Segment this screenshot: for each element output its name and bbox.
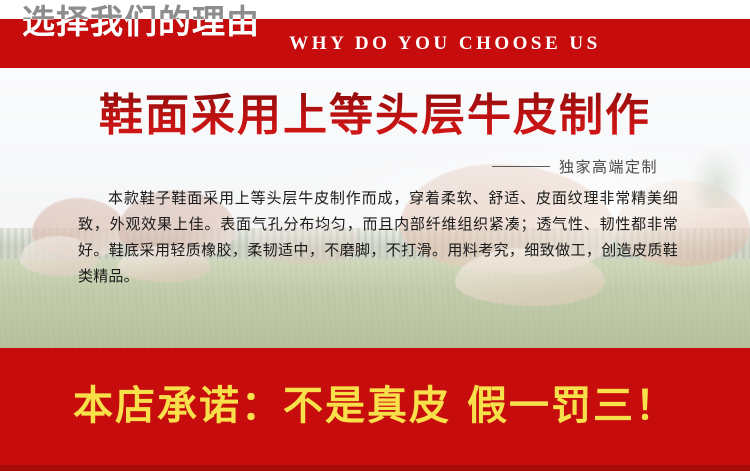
- subline-rule-icon: [492, 166, 550, 167]
- bottom-banner: 本店承诺：不是真皮 假一罚三！: [0, 348, 750, 471]
- feature-headline: 鞋面采用上等头层牛皮制作: [0, 90, 750, 142]
- feature-copy: 鞋面采用上等头层牛皮制作 独家高端定制 本款鞋子鞋面采用上等头层牛皮制作而成，穿…: [0, 68, 750, 349]
- bottom-banner-text: 本店承诺：不是真皮 假一罚三！: [0, 348, 750, 465]
- top-banner: 选择我们的理由 选择我们的理由 WHY DO YOU CHOOSE US: [0, 0, 750, 72]
- feature-body-text: 本款鞋子鞋面采用上等头层牛皮制作而成，穿着柔软、舒适、皮面纹理非常精美细致，外观…: [78, 185, 678, 289]
- feature-subline-text: 独家高端定制: [559, 156, 658, 177]
- top-banner-en-title: WHY DO YOU CHOOSE US: [0, 19, 750, 68]
- feature-section: 鞋面采用上等头层牛皮制作 独家高端定制 本款鞋子鞋面采用上等头层牛皮制作而成，穿…: [0, 68, 750, 349]
- feature-subline: 独家高端定制: [492, 156, 658, 177]
- product-detail-banner: 选择我们的理由 选择我们的理由 WHY DO YOU CHOOSE US 鞋面采…: [0, 0, 750, 471]
- bottom-banner-strip: [0, 465, 750, 471]
